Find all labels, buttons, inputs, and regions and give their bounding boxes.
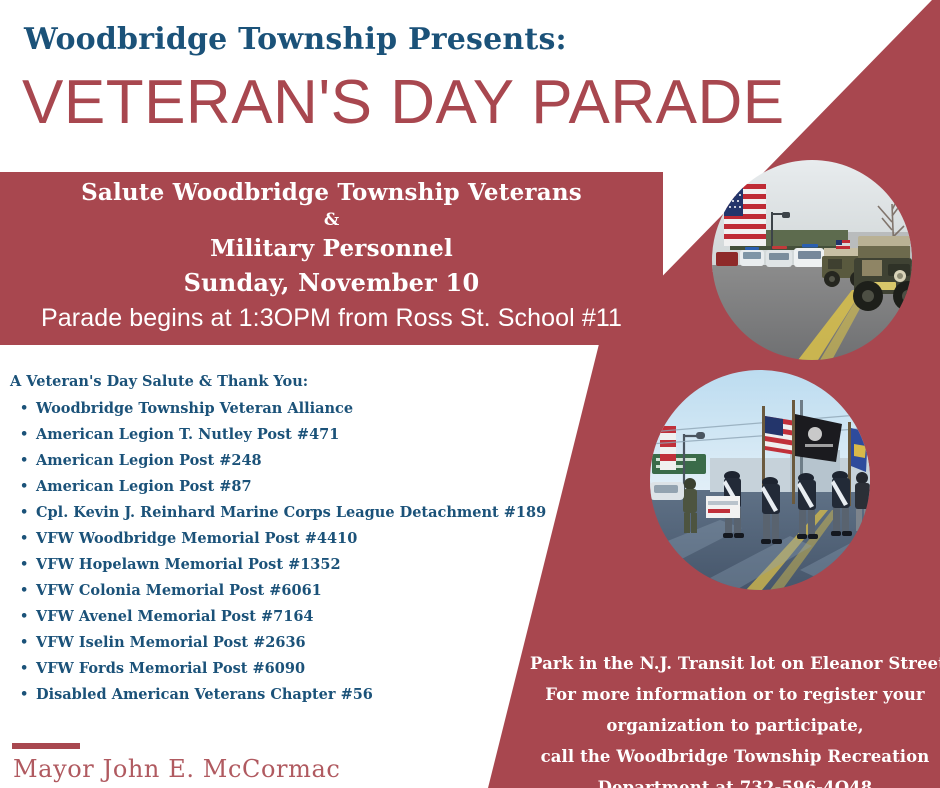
banner-military-line: Military Personnel [0,233,663,265]
organization-list-item: American Legion Post #248 [36,448,546,474]
organization-list-item: VFW Hopelawn Memorial Post #1352 [36,552,546,578]
organization-list-item: Woodbridge Township Veteran Alliance [36,396,546,422]
organization-list-item: VFW Fords Memorial Post #6090 [36,656,546,682]
banner-salute-line: Salute Woodbridge Township Veterans [0,178,663,208]
banner-start-details: Parade begins at 1:3OPM from Ross St. Sc… [0,301,663,335]
color-guard-photo-illustration [650,370,870,590]
page-title: VETERAN'S DAY PARADE [22,72,785,134]
mayor-divider-rule [12,743,80,749]
jeep-photo-illustration [712,160,912,360]
organization-list-item: American Legion Post #87 [36,474,546,500]
parking-and-contact-info: Park in the N.J. Transit lot on Eleanor … [530,648,940,788]
info-line: organization to participate, [530,710,940,741]
info-line: For more information or to register your [530,679,940,710]
info-line: call the Woodbridge Township Recreation [530,741,940,772]
organization-list: Woodbridge Township Veteran AllianceAmer… [10,396,546,708]
organization-list-item: Disabled American Veterans Chapter #56 [36,682,546,708]
organization-list-item: Cpl. Kevin J. Reinhard Marine Corps Leag… [36,500,546,526]
presents-headline: Woodbridge Township Presents: [24,22,567,57]
mayor-name: Mayor John E. McCormac [13,755,340,783]
info-line: Park in the N.J. Transit lot on Eleanor … [530,648,940,679]
organization-list-item: VFW Iselin Memorial Post #2636 [36,630,546,656]
salute-heading: A Veteran's Day Salute & Thank You: [10,373,308,390]
banner-date: Sunday, November 10 [0,265,663,301]
banner-ampersand: & [0,208,663,233]
organization-list-item: VFW Avenel Memorial Post #7164 [36,604,546,630]
event-banner: Salute Woodbridge Township Veterans & Mi… [0,172,663,345]
military-jeep-parade-photo [712,160,912,360]
organization-list-item: American Legion T. Nutley Post #471 [36,422,546,448]
veterans-day-parade-poster: Woodbridge Township Presents: VETERAN'S … [0,0,940,788]
color-guard-marching-photo [650,370,870,590]
info-line: Department at 732-596-4O48 [530,772,940,788]
organization-list-item: VFW Colonia Memorial Post #6061 [36,578,546,604]
organization-list-item: VFW Woodbridge Memorial Post #4410 [36,526,546,552]
